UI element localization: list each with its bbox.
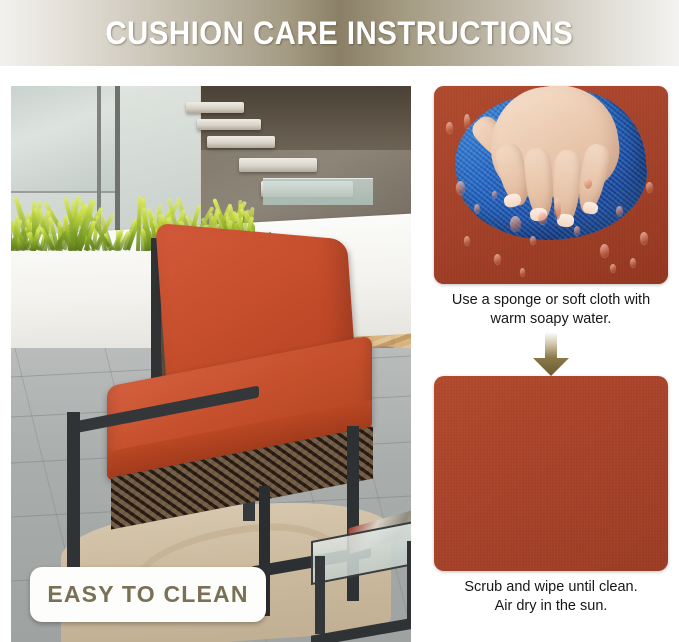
water-droplet bbox=[584, 178, 592, 189]
side-table-leg bbox=[407, 541, 411, 621]
water-droplet bbox=[574, 226, 580, 235]
outdoor-patio-chair-photo bbox=[11, 86, 411, 642]
step-clean-caption-line1: Scrub and wipe until clean. bbox=[434, 578, 668, 597]
page-title: CUSHION CARE INSTRUCTIONS bbox=[106, 15, 574, 52]
stair-tread bbox=[239, 158, 317, 172]
step-wipe-caption-line2: warm soapy water. bbox=[434, 310, 668, 329]
water-droplet bbox=[600, 244, 609, 257]
easy-to-clean-label: EASY TO CLEAN bbox=[47, 581, 248, 608]
water-droplet bbox=[464, 114, 470, 128]
water-droplet bbox=[530, 236, 536, 244]
water-droplet bbox=[640, 232, 648, 244]
step-clean-caption: Scrub and wipe until clean. Air dry in t… bbox=[434, 571, 668, 617]
down-arrow-icon bbox=[531, 332, 571, 376]
clean-dry-cushion-fabric-photo bbox=[434, 376, 668, 571]
glass-balustrade bbox=[263, 178, 373, 205]
stair-tread bbox=[197, 119, 261, 130]
glass-pane-upper-left bbox=[11, 86, 122, 191]
side-table-leg bbox=[315, 556, 325, 634]
water-droplet bbox=[510, 216, 521, 231]
water-droplet bbox=[446, 122, 453, 133]
step-wipe-caption: Use a sponge or soft cloth with warm soa… bbox=[434, 284, 668, 330]
water-droplet bbox=[646, 182, 653, 192]
header-banner: CUSHION CARE INSTRUCTIONS bbox=[0, 0, 679, 66]
water-droplet bbox=[630, 258, 636, 267]
step-wipe-caption-line1: Use a sponge or soft cloth with bbox=[434, 291, 668, 310]
water-droplet bbox=[554, 198, 561, 220]
step-clean-caption-line2: Air dry in the sun. bbox=[434, 597, 668, 616]
care-steps-column: Use a sponge or soft cloth with warm soa… bbox=[434, 86, 668, 642]
stair-tread bbox=[207, 136, 275, 148]
water-droplet bbox=[494, 254, 501, 264]
water-droplet bbox=[520, 268, 525, 276]
grass-blade bbox=[116, 230, 120, 251]
water-droplet bbox=[474, 204, 480, 213]
water-droplet bbox=[456, 181, 465, 194]
content-area: EASY TO CLEAN Use a sponge or soft cloth… bbox=[0, 66, 679, 642]
stair-tread bbox=[186, 102, 244, 113]
down-arrow bbox=[434, 330, 668, 376]
easy-to-clean-badge: EASY TO CLEAN bbox=[30, 567, 266, 622]
water-droplet bbox=[616, 206, 623, 216]
water-droplet bbox=[538, 212, 547, 224]
water-droplet bbox=[610, 264, 616, 272]
hand-wiping-cushion-with-blue-cloth-photo bbox=[434, 86, 668, 284]
water-droplet bbox=[464, 236, 470, 245]
water-droplet bbox=[492, 191, 497, 198]
